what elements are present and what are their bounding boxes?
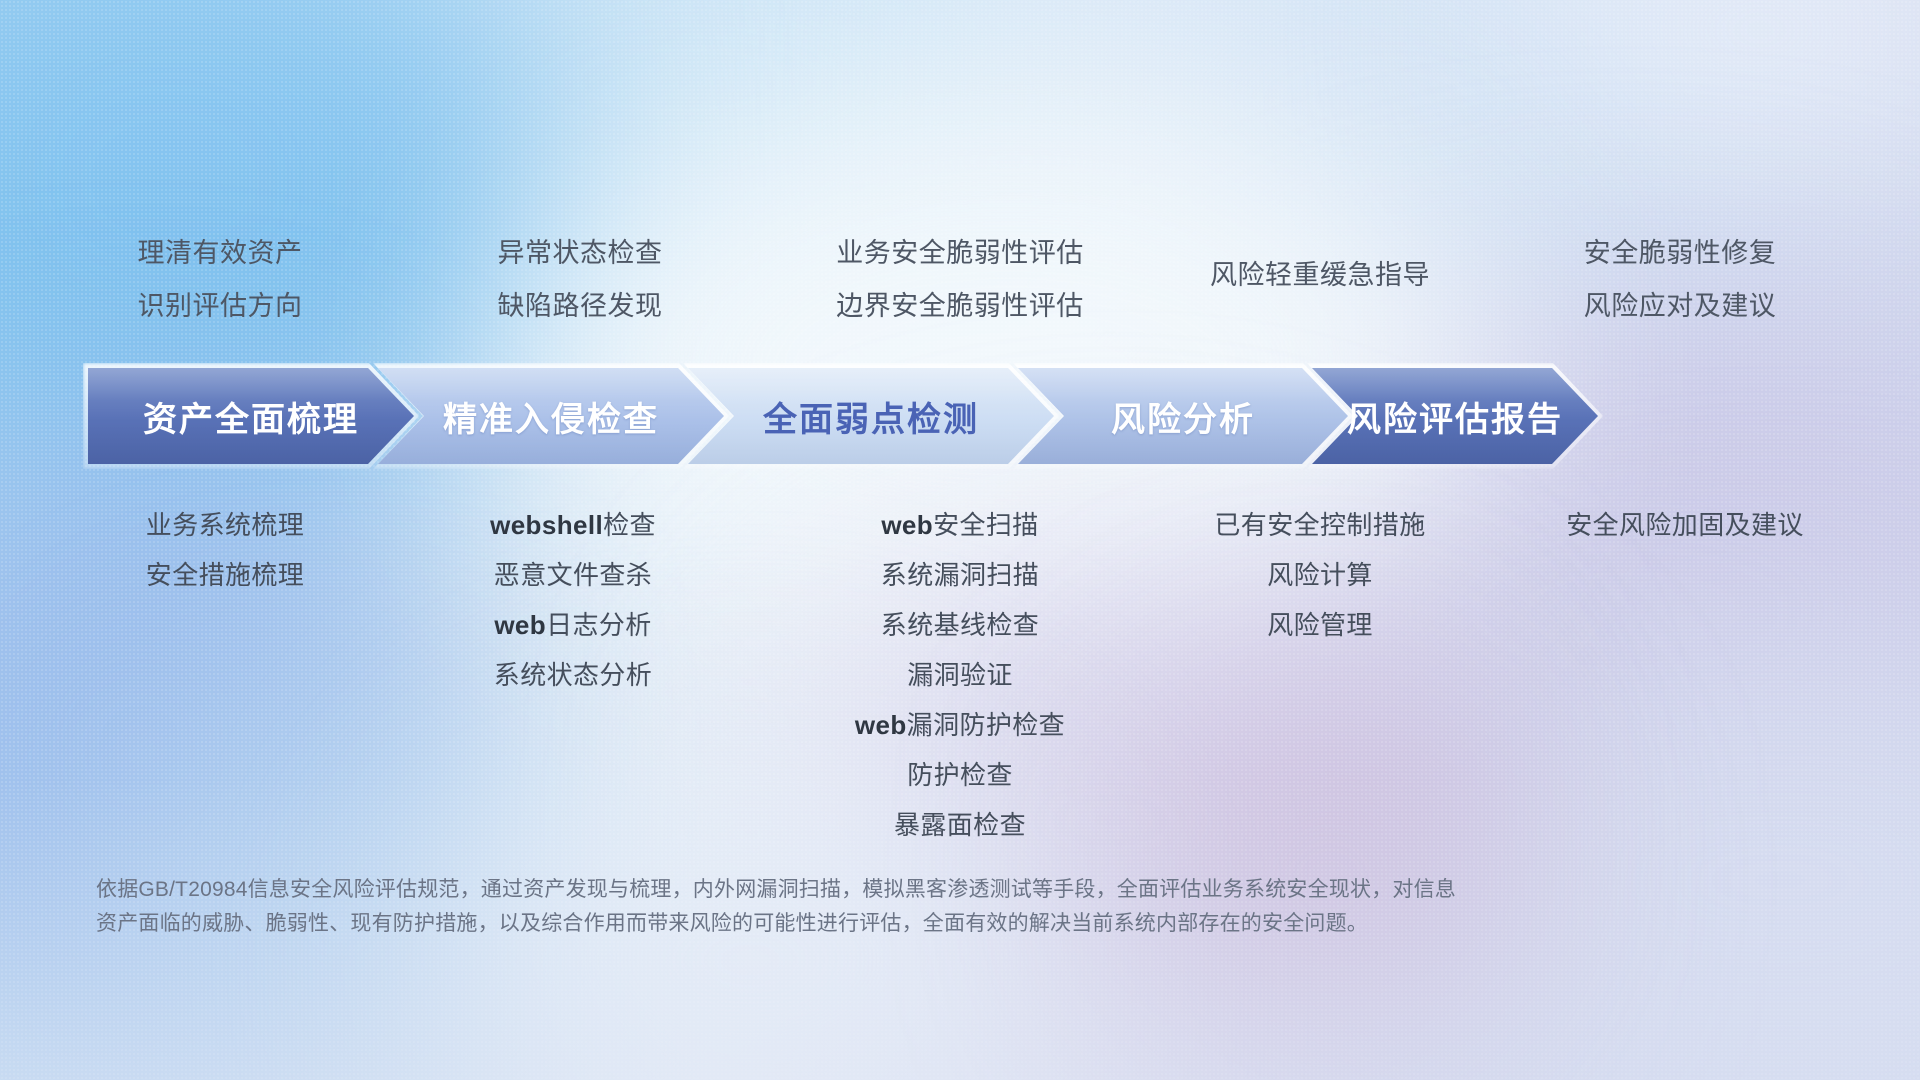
top-label: 异常状态检查 [420, 240, 740, 267]
stage-chevron-risk-analysis[interactable]: 风险分析 [1018, 368, 1348, 464]
top-label: 风险轻重缓急指导 [1140, 262, 1500, 289]
list-item-text: 业务系统梳理 [146, 510, 304, 540]
list-item: webshell检查 [408, 512, 738, 538]
top-label: 理清有效资产 [60, 240, 380, 267]
list-item: 业务系统梳理 [65, 512, 385, 538]
top-label: 业务安全脆弱性评估 [760, 240, 1160, 267]
list-item: web安全扫描 [765, 512, 1155, 538]
list-item-text: 系统基线检查 [881, 610, 1039, 640]
stage-chevron-intrusion-check[interactable]: 精准入侵检查 [378, 368, 724, 464]
list-item: 暴露面检查 [765, 812, 1155, 838]
bottom-list-weakness-detection: web安全扫描 系统漏洞扫描 系统基线检查 漏洞验证 web漏洞防护检查 防护检… [765, 512, 1155, 838]
footer-description: 依据GB/T20984信息安全风险评估规范，通过资产发现与梳理，内外网漏洞扫描，… [96, 873, 1626, 941]
top-label: 安全脆弱性修复 [1500, 240, 1860, 267]
list-item: 漏洞验证 [765, 662, 1155, 688]
list-item: 恶意文件查杀 [408, 562, 738, 588]
footer-line-1: 依据GB/T20984信息安全风险评估规范，通过资产发现与梳理，内外网漏洞扫描，… [96, 873, 1626, 907]
list-item: 系统状态分析 [408, 662, 738, 688]
stage-label: 精准入侵检查 [443, 392, 659, 441]
list-item-prefix: web [494, 610, 546, 640]
list-item-text: 恶意文件查杀 [494, 560, 652, 590]
stage-label: 风险评估报告 [1347, 392, 1563, 441]
stage-label: 资产全面梳理 [143, 392, 359, 441]
list-item-text: 防护检查 [907, 760, 1013, 790]
list-item-text: 风险管理 [1267, 610, 1373, 640]
list-item-text: 日志分析 [546, 610, 652, 640]
list-item-text: 安全风险加固及建议 [1566, 510, 1804, 540]
list-item-prefix: web [881, 510, 933, 540]
top-labels-weakness-detection: 业务安全脆弱性评估 边界安全脆弱性评估 [760, 240, 1160, 320]
bottom-list-risk-report: 安全风险加固及建议 [1490, 512, 1880, 538]
list-item: 安全风险加固及建议 [1490, 512, 1880, 538]
bottom-list-intrusion-check: webshell检查 恶意文件查杀 web日志分析 系统状态分析 [408, 512, 738, 688]
top-label: 缺陷路径发现 [420, 293, 740, 320]
list-item: 防护检查 [765, 762, 1155, 788]
stage-label: 风险分析 [1111, 392, 1255, 441]
list-item: 系统漏洞扫描 [765, 562, 1155, 588]
process-flow-band: 资产全面梳理 精准入侵检查 全面弱点检测 风险分析 风险评估报告 [88, 368, 1598, 464]
list-item-text: 系统状态分析 [494, 660, 652, 690]
top-label: 识别评估方向 [60, 293, 380, 320]
list-item: 安全措施梳理 [65, 562, 385, 588]
list-item-text: 检查 [603, 510, 656, 540]
top-label: 风险应对及建议 [1500, 293, 1860, 320]
footer-line-2: 资产面临的威胁、脆弱性、现有防护措施，以及综合作用而带来风险的可能性进行评估，全… [96, 907, 1626, 941]
stage-chevron-asset-inventory[interactable]: 资产全面梳理 [88, 368, 414, 464]
stage-chevron-risk-report[interactable]: 风险评估报告 [1312, 368, 1598, 464]
list-item-text: 已有安全控制措施 [1214, 510, 1425, 540]
list-item-prefix: webshell [490, 510, 603, 540]
list-item-prefix: web [855, 710, 907, 740]
bottom-list-asset-inventory: 业务系统梳理 安全措施梳理 [65, 512, 385, 588]
list-item-text: 暴露面检查 [894, 810, 1026, 840]
list-item-text: 漏洞防护检查 [907, 710, 1065, 740]
top-labels-asset-inventory: 理清有效资产 识别评估方向 [60, 240, 380, 320]
top-labels-risk-report: 安全脆弱性修复 风险应对及建议 [1500, 240, 1860, 320]
list-item-text: 安全措施梳理 [146, 560, 304, 590]
list-item: web漏洞防护检查 [765, 712, 1155, 738]
list-item-text: 风险计算 [1267, 560, 1373, 590]
list-item-text: 漏洞验证 [907, 660, 1013, 690]
list-item-text: 系统漏洞扫描 [881, 560, 1039, 590]
list-item: 系统基线检查 [765, 612, 1155, 638]
list-item-text: 安全扫描 [933, 510, 1039, 540]
bottom-list-risk-analysis: 已有安全控制措施 风险计算 风险管理 [1140, 512, 1500, 638]
top-label: 边界安全脆弱性评估 [760, 293, 1160, 320]
list-item: 风险计算 [1140, 562, 1500, 588]
stage-label: 全面弱点检测 [763, 392, 979, 441]
list-item: 风险管理 [1140, 612, 1500, 638]
list-item: 已有安全控制措施 [1140, 512, 1500, 538]
stage-chevron-weakness-detection[interactable]: 全面弱点检测 [688, 368, 1054, 464]
top-labels-risk-analysis: 风险轻重缓急指导 [1140, 262, 1500, 289]
top-labels-intrusion-check: 异常状态检查 缺陷路径发现 [420, 240, 740, 320]
list-item: web日志分析 [408, 612, 738, 638]
